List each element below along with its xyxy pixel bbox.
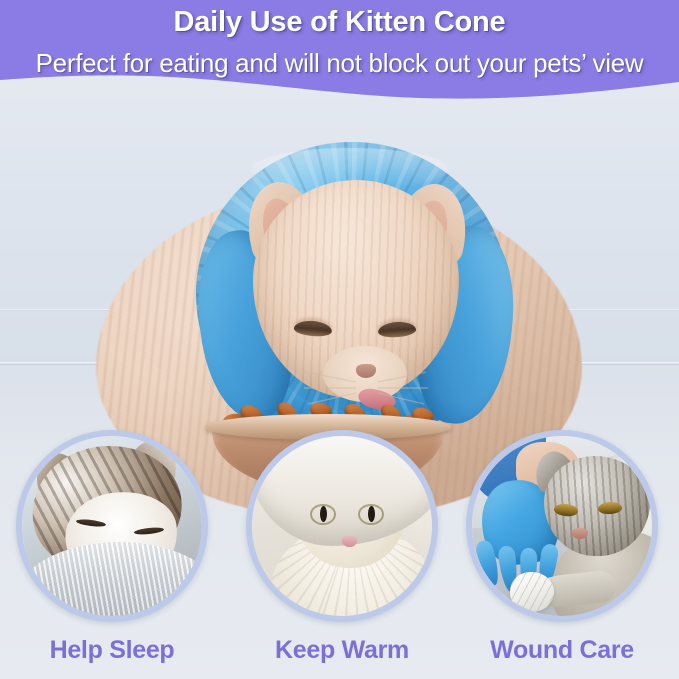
feature-label-wound-care: Wound Care bbox=[466, 636, 658, 665]
banner-subtitle: Perfect for eating and will not block ou… bbox=[0, 37, 679, 76]
feature-item-wound-care[interactable]: Wound Care bbox=[466, 430, 658, 665]
warm-cat-nose bbox=[342, 536, 357, 547]
feature-thumbnail-keep-warm[interactable] bbox=[246, 430, 438, 622]
feature-thumbnail-wound-care[interactable] bbox=[466, 430, 658, 622]
feature-label-keep-warm: Keep Warm bbox=[246, 636, 438, 665]
warm-cat-pupil-left bbox=[320, 506, 327, 522]
warm-cat-pupil-right bbox=[368, 506, 375, 522]
bandaged-paw bbox=[510, 572, 554, 612]
vet-cat-nose bbox=[572, 528, 588, 539]
feature-thumbnail-help-sleep[interactable] bbox=[16, 430, 208, 622]
feature-row: Help Sleep Kee bbox=[0, 430, 679, 679]
feature-item-keep-warm[interactable]: Keep Warm bbox=[246, 430, 438, 665]
feature-label-help-sleep: Help Sleep bbox=[16, 636, 208, 665]
feature-item-help-sleep[interactable]: Help Sleep bbox=[16, 430, 208, 665]
product-feature-poster: Daily Use of Kitten Cone Perfect for eat… bbox=[0, 0, 679, 679]
banner-title: Daily Use of Kitten Cone bbox=[0, 0, 679, 37]
